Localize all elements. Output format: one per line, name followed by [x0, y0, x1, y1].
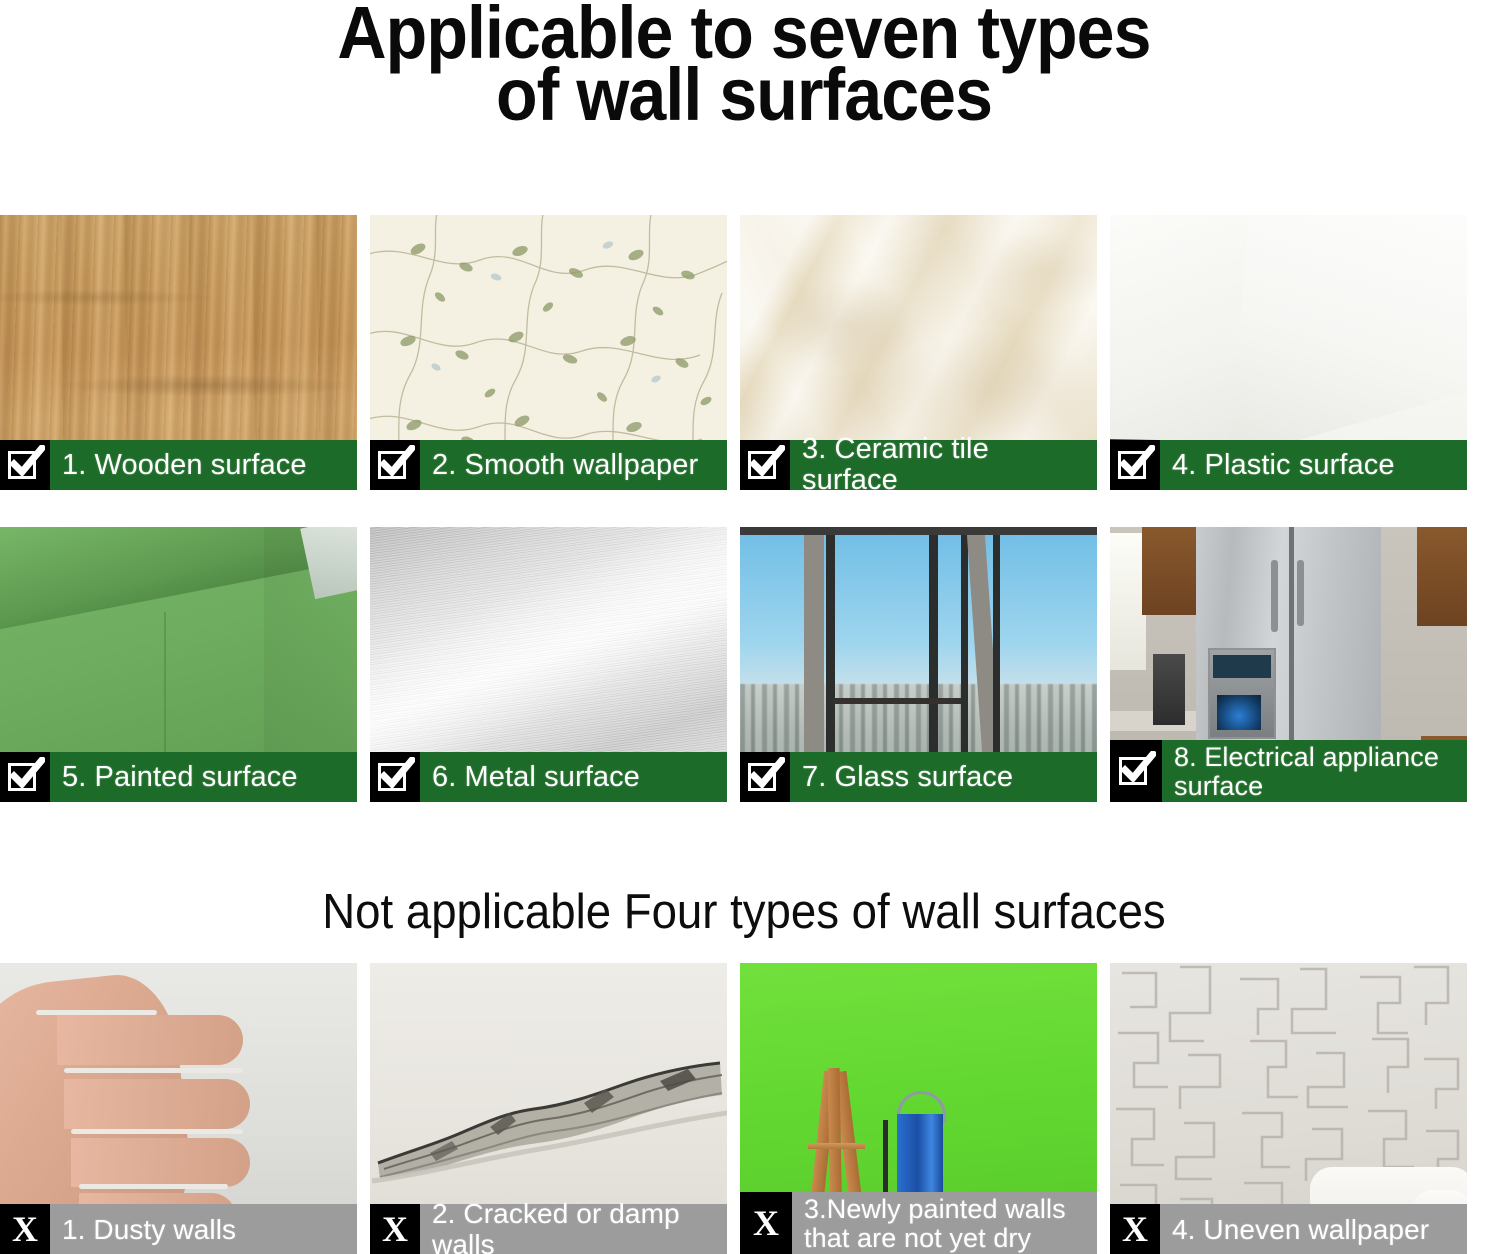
caption-bar: X 3.Newly painted walls that are not yet…	[740, 1192, 1097, 1254]
surface-card-newly-painted: X 3.Newly painted walls that are not yet…	[740, 963, 1097, 1254]
surface-card-plastic: 4. Plastic surface	[1110, 215, 1467, 490]
checkmark-icon	[370, 752, 420, 802]
caption-label: 2. Smooth wallpaper	[420, 440, 727, 490]
checkmark-icon	[1110, 740, 1162, 802]
caption-label: 3.Newly painted walls that are not yet d…	[792, 1192, 1097, 1254]
caption-bar: 8. Electrical appliance surface	[1110, 740, 1467, 802]
cross-x-icon: X	[370, 1204, 420, 1254]
checkmark-icon	[0, 752, 50, 802]
cross-x-icon: X	[0, 1204, 50, 1254]
surface-card-painted: 5. Painted surface	[0, 527, 357, 802]
caption-bar: 1. Wooden surface	[0, 440, 357, 490]
infographic-page: Applicable to seven types of wall surfac…	[0, 0, 1488, 1254]
checkmark-icon	[740, 752, 790, 802]
surface-card-glass: 7. Glass surface	[740, 527, 1097, 802]
caption-label: 5. Painted surface	[50, 752, 357, 802]
applicable-grid-row-1: 1. Wooden surface	[0, 215, 1467, 490]
surface-card-metal: 6. Metal surface	[370, 527, 727, 802]
caption-bar: 2. Smooth wallpaper	[370, 440, 727, 490]
caption-label: 1. Wooden surface	[50, 440, 357, 490]
checkmark-icon	[1110, 440, 1160, 490]
checkmark-icon	[740, 440, 790, 490]
caption-bar: X 4. Uneven wallpaper	[1110, 1204, 1467, 1254]
caption-label: 8. Electrical appliance surface	[1162, 740, 1467, 802]
surface-card-smooth-wallpaper: 2. Smooth wallpaper	[370, 215, 727, 490]
not-applicable-grid: X 1. Dusty walls X	[0, 963, 1467, 1254]
page-title: Applicable to seven types of wall surfac…	[60, 2, 1429, 126]
caption-bar: 7. Glass surface	[740, 752, 1097, 802]
caption-bar: 5. Painted surface	[0, 752, 357, 802]
caption-label: 4. Uneven wallpaper	[1160, 1204, 1467, 1254]
caption-label: 3. Ceramic tile surface	[790, 440, 1097, 490]
surface-card-ceramic-tile: 3. Ceramic tile surface	[740, 215, 1097, 490]
cross-x-icon: X	[1110, 1204, 1160, 1254]
surface-card-uneven-wallpaper: X 4. Uneven wallpaper	[1110, 963, 1467, 1254]
caption-label: 1. Dusty walls	[50, 1204, 357, 1254]
caption-label: 7. Glass surface	[790, 752, 1097, 802]
surface-card-dusty-walls: X 1. Dusty walls	[0, 963, 357, 1254]
caption-label: 4. Plastic surface	[1160, 440, 1467, 490]
cross-x-icon: X	[740, 1192, 792, 1254]
surface-card-cracked-walls: X 2. Cracked or damp walls	[370, 963, 727, 1254]
caption-bar: 3. Ceramic tile surface	[740, 440, 1097, 490]
checkmark-icon	[370, 440, 420, 490]
applicable-grid-row-2: 5. Painted surface 6. Metal surface	[0, 527, 1467, 802]
caption-label: 2. Cracked or damp walls	[420, 1204, 727, 1254]
section-subtitle: Not applicable Four types of wall surfac…	[52, 884, 1436, 940]
surface-card-electrical-appliance: 8. Electrical appliance surface	[1110, 527, 1467, 802]
caption-bar: 6. Metal surface	[370, 752, 727, 802]
page-title-line2: of wall surfaces	[60, 64, 1429, 126]
checkmark-icon	[0, 440, 50, 490]
caption-bar: 4. Plastic surface	[1110, 440, 1467, 490]
surface-card-wooden: 1. Wooden surface	[0, 215, 357, 490]
caption-label: 6. Metal surface	[420, 752, 727, 802]
caption-bar: X 2. Cracked or damp walls	[370, 1204, 727, 1254]
caption-bar: X 1. Dusty walls	[0, 1204, 357, 1254]
